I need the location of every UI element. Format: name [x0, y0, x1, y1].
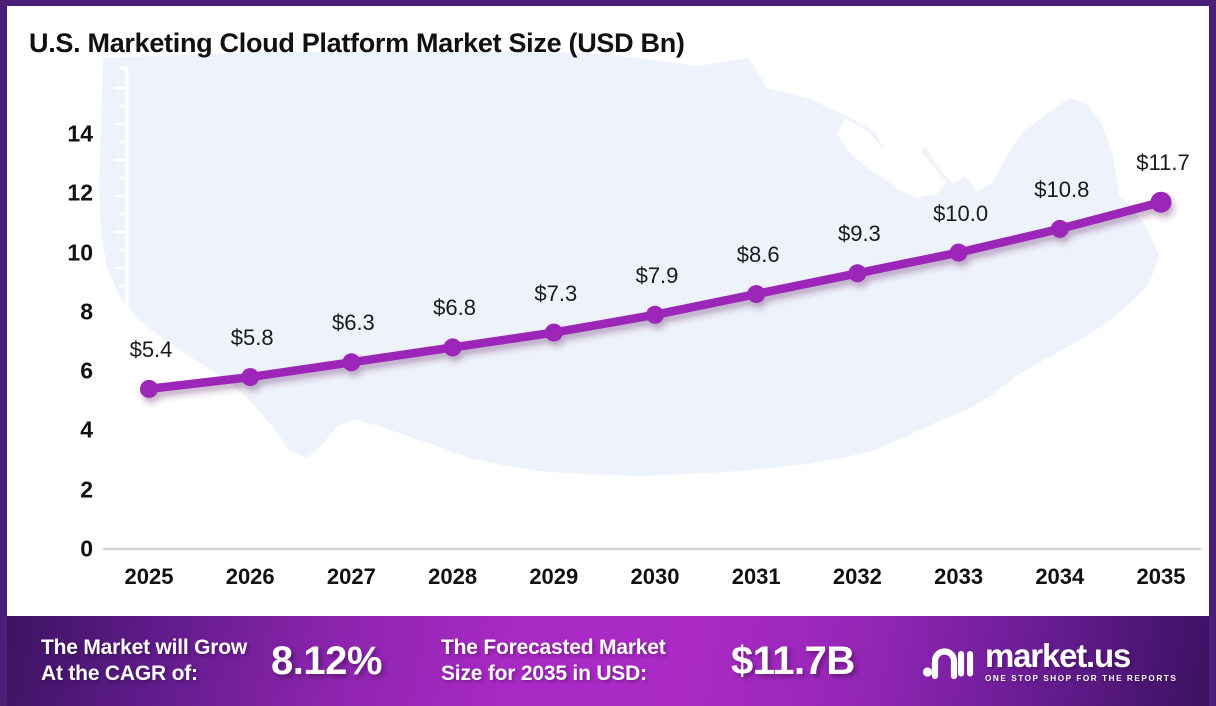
y-axis-tick: 12	[37, 180, 93, 207]
data-point-marker[interactable]	[545, 324, 563, 342]
data-point-label: $6.3	[332, 310, 375, 336]
data-point-label: $7.9	[636, 263, 679, 289]
y-axis-tick: 10	[37, 239, 93, 266]
forecast-size-value: $11.7B	[731, 639, 916, 684]
x-axis-tick: 2027	[327, 564, 376, 590]
data-point-label: $10.8	[1034, 177, 1089, 203]
data-point-marker[interactable]	[747, 285, 765, 303]
data-point-label: $7.3	[534, 281, 577, 307]
forecast-size-label-line1: The Forecasted Market	[441, 635, 731, 661]
data-point-marker[interactable]	[1151, 192, 1172, 213]
forecast-size-label: The Forecasted Market Size for 2035 in U…	[441, 635, 731, 688]
cagr-label: The Market will Grow At the CAGR of:	[41, 635, 271, 688]
x-axis-tick: 2034	[1035, 564, 1084, 590]
logo-wordmark: market.us	[985, 639, 1177, 672]
y-axis-tick: 8	[37, 298, 93, 325]
x-axis: 2025202620272028202920302031203220332034…	[103, 564, 1201, 598]
data-point-marker[interactable]	[646, 306, 664, 324]
data-point-label: $10.0	[933, 201, 988, 227]
y-axis-tick: 4	[37, 417, 93, 444]
data-point-label: $9.3	[838, 221, 881, 247]
x-axis-tick: 2029	[529, 564, 578, 590]
footer-bar: The Market will Grow At the CAGR of: 8.1…	[7, 616, 1216, 706]
data-point-marker[interactable]	[241, 368, 259, 386]
y-axis-tick: 2	[37, 476, 93, 503]
data-point-label: $11.7	[1136, 150, 1189, 176]
series-line	[149, 202, 1161, 389]
cagr-label-line2: At the CAGR of:	[41, 661, 271, 687]
x-axis-tick: 2026	[226, 564, 275, 590]
data-point-label: $5.8	[231, 325, 274, 351]
data-point-label: $8.6	[737, 242, 780, 268]
y-axis-tick: 14	[37, 121, 93, 148]
data-point-marker[interactable]	[950, 244, 968, 262]
y-axis-tick: 6	[37, 358, 93, 385]
forecast-size-label-line2: Size for 2035 in USD:	[441, 661, 731, 687]
x-axis-tick: 2035	[1137, 564, 1186, 590]
logo-tagline: ONE STOP SHOP FOR THE REPORTS	[985, 675, 1177, 683]
y-axis: 02468101214	[37, 116, 93, 556]
data-point-marker[interactable]	[140, 380, 158, 398]
data-point-label: $5.4	[130, 337, 173, 363]
x-axis-tick: 2033	[934, 564, 983, 590]
market-us-logo-icon	[922, 641, 974, 681]
market-us-logo-text: market.us ONE STOP SHOP FOR THE REPORTS	[985, 639, 1177, 683]
data-point-marker[interactable]	[848, 264, 866, 282]
chart-page: U.S. Marketing Cloud Platform Market Siz…	[0, 0, 1216, 706]
x-axis-tick: 2028	[428, 564, 477, 590]
cagr-value: 8.12%	[271, 639, 441, 684]
y-axis-tick: 0	[37, 536, 93, 563]
page-title: U.S. Marketing Cloud Platform Market Siz…	[29, 28, 685, 59]
market-us-logo[interactable]: market.us ONE STOP SHOP FOR THE REPORTS	[922, 639, 1177, 683]
x-axis-tick: 2025	[125, 564, 174, 590]
data-point-label: $6.8	[433, 295, 476, 321]
x-axis-tick: 2030	[631, 564, 680, 590]
cagr-label-line1: The Market will Grow	[41, 635, 271, 661]
x-axis-tick: 2032	[833, 564, 882, 590]
data-point-marker[interactable]	[1051, 220, 1069, 238]
x-axis-tick: 2031	[732, 564, 781, 590]
data-point-marker[interactable]	[342, 353, 360, 371]
data-point-marker[interactable]	[444, 338, 462, 356]
